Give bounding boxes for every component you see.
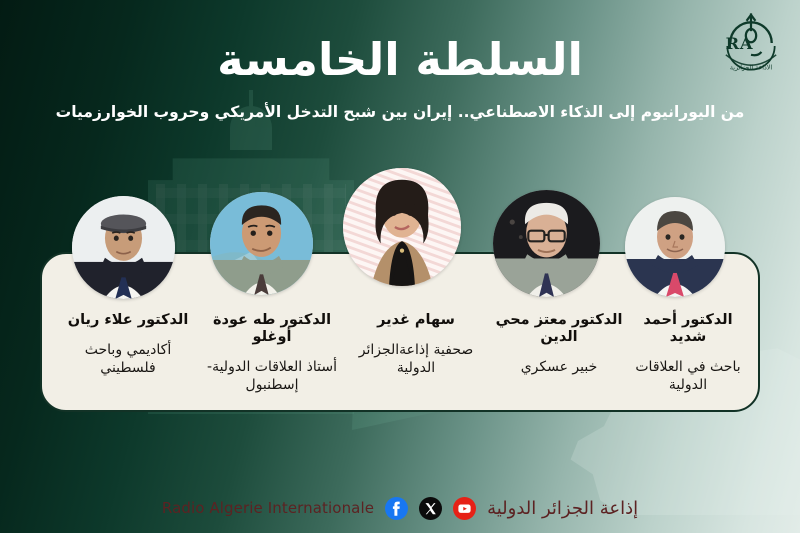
panelist-label-3: الدكتور طه عودة أوغلو أستاذ العلاقات الد… [202,312,342,395]
panelist-avatar-1[interactable] [493,190,600,297]
footer-latin-text: Radio Algerie Internationale [162,499,374,517]
panelist-name-4: الدكتور علاء ريان [64,312,192,329]
panelist-label-1: الدكتور معتز محي الدين خبير عسكري [494,312,624,376]
footer-arabic-text: إذاعة الجزائر الدولية [487,498,638,519]
panelist-role-4: أكاديمي وباحث فلسطيني [64,341,192,377]
panelist-name-1: الدكتور معتز محي الدين [494,312,624,346]
panelist-avatar-2[interactable] [343,168,461,286]
portrait-alaa-rayyan [72,196,175,299]
panelist-avatar-0[interactable] [625,197,725,297]
footer-bar: Radio Algerie Internationale إذاعة الجزا… [0,491,800,525]
panelist-role-3: أستاذ العلاقات الدولية- إسطنبول [202,358,342,394]
panelist-label-0: الدكتور أحمد شديد باحث في العلاقات الدول… [624,312,752,395]
panelist-name-3: الدكتور طه عودة أوغلو [202,312,342,346]
panelist-avatar-4[interactable] [72,196,175,299]
panelist-avatar-3[interactable] [210,192,313,295]
portrait-taha-ouda-oglou [210,192,313,295]
panelist-name-0: الدكتور أحمد شديد [624,312,752,346]
panelist-role-2: صحفية إذاعةالجزائر الدولية [352,341,480,377]
panelist-role-0: باحث في العلاقات الدولية [624,358,752,394]
panelist-role-1: خبير عسكري [494,358,624,376]
x-twitter-icon[interactable] [419,497,442,520]
panelist-portraits [0,0,800,533]
poster-root: R A الاذاعة الجزائرية السلطة الخامسة من … [0,0,800,533]
panelist-label-4: الدكتور علاء ريان أكاديمي وباحث فلسطيني [64,312,192,377]
portrait-ahmed-chedid [625,197,725,297]
facebook-icon[interactable] [385,497,408,520]
youtube-icon[interactable] [453,497,476,520]
portrait-moataz-mohieddine [493,190,600,297]
panelist-name-2: سهام غدير [352,312,480,329]
panelist-label-2: سهام غدير صحفية إذاعةالجزائر الدولية [352,312,480,377]
portrait-siham-ghadir [343,168,461,286]
